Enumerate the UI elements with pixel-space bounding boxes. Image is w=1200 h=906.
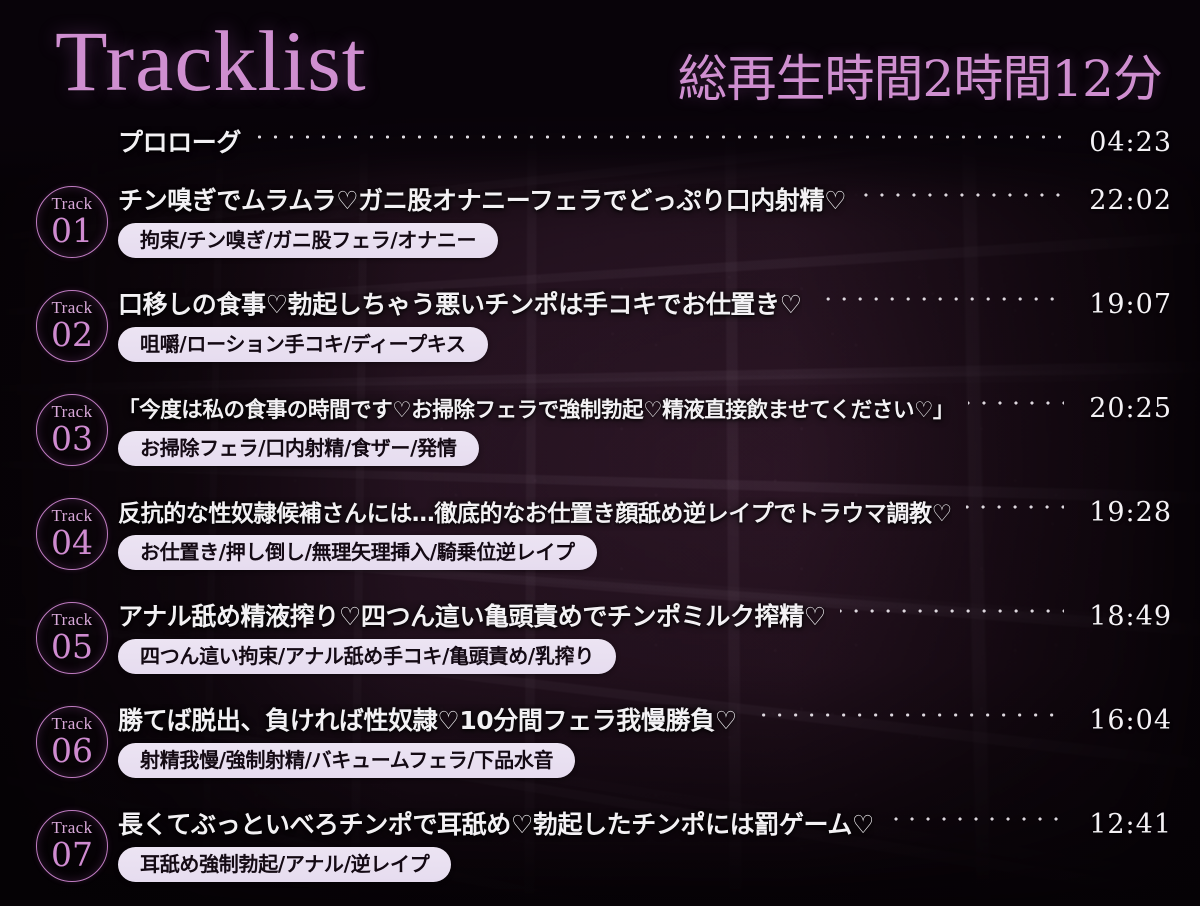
track-title-line: プロローグ 04:23 <box>118 126 1172 160</box>
track-tags-pill: お掃除フェラ/口内射精/食ザー/発情 <box>118 431 479 466</box>
track-name: プロローグ <box>118 126 241 160</box>
track-row[interactable]: Track 01 チン嗅ぎでムラムラ♡ガニ股オナニーフェラでどっぷり口内射精♡ … <box>0 178 1200 282</box>
track-number-badge: Track 06 <box>36 706 108 778</box>
total-playtime: 総再生時間2時間12分 <box>678 54 1162 104</box>
track-number-badge: Track 04 <box>36 498 108 570</box>
badge-number-label: 02 <box>51 318 93 351</box>
page-title: Tracklist <box>55 18 367 104</box>
track-duration: 19:28 <box>1076 496 1172 530</box>
track-title-line: アナル舐め精液搾り♡四つん這い亀頭責めでチンポミルク搾精♡ 18:49 <box>118 600 1172 634</box>
track-list: プロローグ 04:23 Track 01 チン嗅ぎでムラムラ♡ガニ股オナニーフェ… <box>0 126 1200 906</box>
dot-leader <box>816 291 1064 313</box>
track-tags-pill: 拘束/チン嗅ぎ/ガニ股フェラ/オナニー <box>118 223 498 258</box>
track-number-badge: Track 01 <box>36 186 108 258</box>
track-title-line: チン嗅ぎでムラムラ♡ガニ股オナニーフェラでどっぷり口内射精♡ 22:02 <box>118 184 1172 218</box>
badge-word-label: Track <box>51 195 92 212</box>
track-row[interactable]: Track 02 口移しの食事♡勃起しちゃう悪いチンポは手コキでお仕置き♡ 19… <box>0 282 1200 386</box>
dot-leader <box>255 129 1064 151</box>
track-title-line: 長くてぶっといべろチンポで耳舐め♡勃起したチンポには罰ゲーム♡ 12:41 <box>118 808 1172 842</box>
track-duration: 16:04 <box>1076 704 1172 738</box>
track-number-badge: Track 03 <box>36 394 108 466</box>
track-name: 口移しの食事♡勃起しちゃう悪いチンポは手コキでお仕置き♡ <box>118 288 802 322</box>
track-name: 反抗的な性奴隷候補さんには…徹底的なお仕置き顔舐め逆レイプでトラウマ調教♡ <box>118 497 952 531</box>
track-title-line: 口移しの食事♡勃起しちゃう悪いチンポは手コキでお仕置き♡ 19:07 <box>118 288 1172 322</box>
track-number-badge: Track 05 <box>36 602 108 674</box>
track-row[interactable]: Track 07 長くてぶっといべろチンポで耳舐め♡勃起したチンポには罰ゲーム♡… <box>0 802 1200 906</box>
badge-word-label: Track <box>51 611 92 628</box>
track-row[interactable]: Track 06 勝てば脱出、負ければ性奴隷♡10分間フェラ我慢勝負♡ 16:0… <box>0 698 1200 802</box>
track-row[interactable]: Track 03 「今度は私の食事の時間です♡お掃除フェラで強制勃起♡精液直接飲… <box>0 386 1200 490</box>
track-tags-pill: 耳舐め強制勃起/アナル/逆レイプ <box>118 847 451 882</box>
badge-word-label: Track <box>51 299 92 316</box>
header: Tracklist 総再生時間2時間12分 <box>0 12 1200 120</box>
badge-word-label: Track <box>51 507 92 524</box>
track-row[interactable]: Track 05 アナル舐め精液搾り♡四つん這い亀頭責めでチンポミルク搾精♡ 1… <box>0 594 1200 698</box>
track-title-line: 反抗的な性奴隷候補さんには…徹底的なお仕置き顔舐め逆レイプでトラウマ調教♡ 19… <box>118 496 1172 531</box>
track-name: チン嗅ぎでムラムラ♡ガニ股オナニーフェラでどっぷり口内射精♡ <box>118 184 846 218</box>
track-duration: 22:02 <box>1076 184 1172 218</box>
track-name: 長くてぶっといべろチンポで耳舐め♡勃起したチンポには罰ゲーム♡ <box>118 808 874 842</box>
track-tags-pill: 射精我慢/強制射精/バキュームフェラ/下品水音 <box>118 743 575 778</box>
badge-number-label: 04 <box>51 526 93 559</box>
track-duration: 12:41 <box>1076 808 1172 842</box>
dot-leader <box>751 707 1064 729</box>
track-title-line: 勝てば脱出、負ければ性奴隷♡10分間フェラ我慢勝負♡ 16:04 <box>118 704 1172 738</box>
track-number-badge: Track 07 <box>36 810 108 882</box>
track-duration: 20:25 <box>1076 392 1172 426</box>
tracklist-page: Tracklist 総再生時間2時間12分 プロローグ 04:23 Track … <box>0 0 1200 900</box>
track-name: アナル舐め精液搾り♡四つん這い亀頭責めでチンポミルク搾精♡ <box>118 600 826 634</box>
track-tags-pill: 四つん這い拘束/アナル舐め手コキ/亀頭責め/乳搾り <box>118 639 616 674</box>
badge-number-label: 06 <box>51 734 93 767</box>
track-duration: 18:49 <box>1076 600 1172 634</box>
badge-number-label: 01 <box>51 214 93 247</box>
badge-number-label: 07 <box>51 838 93 871</box>
badge-number-label: 03 <box>51 422 93 455</box>
track-name: 「今度は私の食事の時間です♡お掃除フェラで強制勃起♡精液直接飲ませてください♡」 <box>118 394 954 428</box>
dot-leader <box>860 187 1064 209</box>
dot-leader <box>840 603 1064 625</box>
dot-leader <box>968 395 1064 417</box>
track-number-badge: Track 02 <box>36 290 108 362</box>
track-duration: 04:23 <box>1076 126 1172 160</box>
track-row[interactable]: Track 04 反抗的な性奴隷候補さんには…徹底的なお仕置き顔舐め逆レイプでト… <box>0 490 1200 594</box>
dot-leader <box>966 499 1064 521</box>
dot-leader <box>888 811 1064 833</box>
track-tags-pill: お仕置き/押し倒し/無理矢理挿入/騎乗位逆レイプ <box>118 535 597 570</box>
track-tags-pill: 咀嚼/ローション手コキ/ディープキス <box>118 327 488 362</box>
badge-word-label: Track <box>51 403 92 420</box>
badge-number-label: 05 <box>51 630 93 663</box>
track-duration: 19:07 <box>1076 288 1172 322</box>
badge-word-label: Track <box>51 819 92 836</box>
track-title-line: 「今度は私の食事の時間です♡お掃除フェラで強制勃起♡精液直接飲ませてください♡」… <box>118 392 1172 428</box>
track-row-prologue[interactable]: プロローグ 04:23 <box>0 126 1200 178</box>
badge-word-label: Track <box>51 715 92 732</box>
track-name: 勝てば脱出、負ければ性奴隷♡10分間フェラ我慢勝負♡ <box>118 704 737 738</box>
